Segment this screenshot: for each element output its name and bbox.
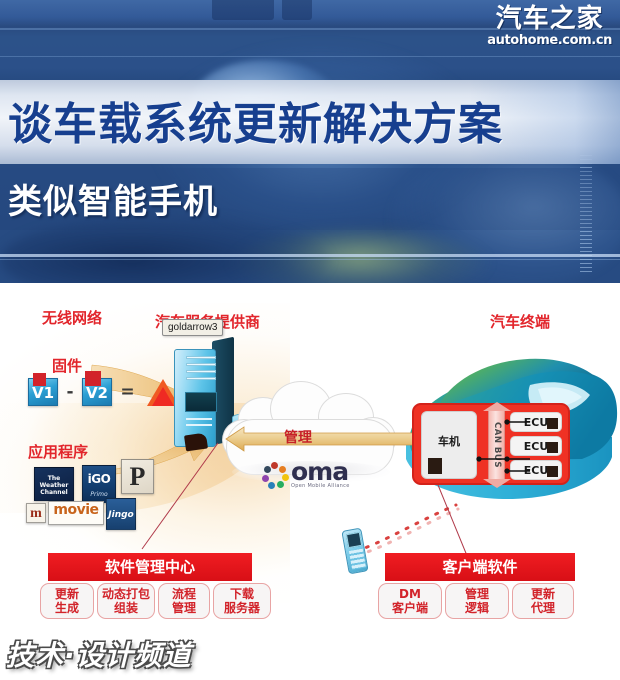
ecu-2-chip-icon xyxy=(547,442,558,453)
firmware-v1-box: V1 xyxy=(28,378,58,406)
oma-logo: oma Open Mobile Alliance xyxy=(262,461,350,489)
imdb-icon-label: m xyxy=(30,506,42,521)
applications-label: 应用程序 xyxy=(28,441,88,462)
subbox-dm-client-line2: 客户端 xyxy=(381,601,439,615)
subbox-dynamic-packaging: 动态打包 组装 xyxy=(97,583,155,619)
subbox-download-server-line1: 下载 xyxy=(216,587,268,601)
subbox-management-logic-line2: 逻辑 xyxy=(448,601,506,615)
software-center-header: 软件管理中心 xyxy=(48,553,252,581)
logo-chinese-text: 汽车之家 xyxy=(487,6,612,32)
server-slot-3 xyxy=(186,370,216,373)
ecu-1-chip-icon xyxy=(547,418,558,429)
the-weather-channel-icon: The Weather Channel xyxy=(34,467,74,501)
v2-label: V2 xyxy=(86,384,108,402)
management-label: 管理 xyxy=(284,427,312,447)
phone-screen xyxy=(346,532,362,548)
connector-server-to-software-center xyxy=(120,441,230,553)
client-software-header: 客户端软件 xyxy=(385,553,575,581)
server-screen xyxy=(185,392,217,412)
subbox-process-management: 流程 管理 xyxy=(158,583,210,619)
logo-domain-text: autohome.com.cn xyxy=(487,34,612,47)
firmware-label: 固件 xyxy=(52,355,82,376)
page-subtitle: 类似智能手机 xyxy=(8,174,218,223)
igo-icon-label: iGO xyxy=(83,466,115,486)
server-lower-line-2 xyxy=(186,424,212,426)
banner-notch-2 xyxy=(282,0,312,20)
server-lower-line-1 xyxy=(186,418,212,420)
subbox-process-management-line1: 流程 xyxy=(161,587,207,601)
architecture-diagram: 固件 V1 - V2 = 应用程序 The Weather Channel iG… xyxy=(0,283,620,680)
v2-flag-icon xyxy=(85,371,101,386)
weather-icon-label: The Weather Channel xyxy=(40,475,69,496)
equals-operator: = xyxy=(116,382,138,402)
server-slot-4 xyxy=(186,377,216,380)
banner-notch-1 xyxy=(212,0,274,20)
movie-icon-label: movie xyxy=(53,502,98,518)
igo-icon-sublabel: Primo xyxy=(83,486,115,498)
head-unit-chip-icon xyxy=(428,458,442,474)
subbox-dm-client-line1: DM xyxy=(381,587,439,601)
head-unit-label: 车机 xyxy=(438,435,460,448)
banner-line-4 xyxy=(0,259,620,260)
oma-wordmark: oma xyxy=(291,461,350,483)
ecu-3-chip-icon xyxy=(547,466,558,477)
minus-operator: - xyxy=(62,382,77,402)
subbox-process-management-line2: 管理 xyxy=(161,601,207,615)
wireless-network-label: 无线网络 xyxy=(42,307,102,328)
server-slot-1 xyxy=(186,356,216,359)
oma-dots-icon xyxy=(262,462,288,488)
subbox-update-generation-line2: 生成 xyxy=(43,601,91,615)
software-center-subboxes: 更新 生成 动态打包 组装 流程 管理 下载 服务器 xyxy=(40,583,271,619)
banner-line-2 xyxy=(0,56,620,57)
phone-keypad xyxy=(349,549,366,570)
autohome-logo: 汽车之家 autohome.com.cn xyxy=(487,6,612,47)
vehicle-ecu-panel: 车机 CAN BUS ECU ECU ECU xyxy=(412,403,570,485)
subbox-download-server-line2: 服务器 xyxy=(216,601,268,615)
subbox-dynamic-packaging-line2: 组装 xyxy=(100,601,152,615)
subbox-download-server: 下载 服务器 xyxy=(213,583,271,619)
page-title: 谈车载系统更新解决方案 xyxy=(8,88,503,152)
v1-label: V1 xyxy=(32,384,54,402)
oma-subtitle: Open Mobile Alliance xyxy=(291,483,350,489)
client-software-subboxes: DM 客户端 管理 逻辑 更新 代理 xyxy=(378,583,574,619)
subbox-update-agent-line1: 更新 xyxy=(515,587,571,601)
subbox-dm-client: DM 客户端 xyxy=(378,583,442,619)
head-unit-box: 车机 xyxy=(421,411,477,479)
subbox-management-logic: 管理 逻辑 xyxy=(445,583,509,619)
screenshot-root: 汽车之家 autohome.com.cn 谈车载系统更新解决方案 类似智能手机 xyxy=(0,0,620,680)
channel-watermark: 技术·设计频道 xyxy=(6,634,192,674)
server-front-panel xyxy=(174,349,216,447)
subbox-update-generation: 更新 生成 xyxy=(40,583,94,619)
movie-icon-sublabel: entertainment xyxy=(49,519,103,525)
banner-glow-3 xyxy=(230,230,490,283)
imdb-icon: m xyxy=(26,503,46,523)
firmware-v2-box: V2 xyxy=(82,378,112,406)
vehicle-terminal-label: 汽车终端 xyxy=(490,311,550,332)
server-slot-2 xyxy=(186,363,216,366)
banner-line-3 xyxy=(0,254,620,257)
subbox-management-logic-line1: 管理 xyxy=(448,587,506,601)
movie-icon: movie entertainment xyxy=(48,501,104,525)
subbox-update-agent-line2: 代理 xyxy=(515,601,571,615)
firmware-equation: V1 - V2 = xyxy=(28,378,179,406)
goldarrow3-tooltip: goldarrow3 xyxy=(162,319,223,336)
subbox-dynamic-packaging-line1: 动态打包 xyxy=(100,587,152,601)
subbox-update-agent: 更新 代理 xyxy=(512,583,574,619)
ecu-connector-lines xyxy=(474,409,532,483)
v1-flag-icon xyxy=(33,373,46,386)
subbox-update-generation-line1: 更新 xyxy=(43,587,91,601)
